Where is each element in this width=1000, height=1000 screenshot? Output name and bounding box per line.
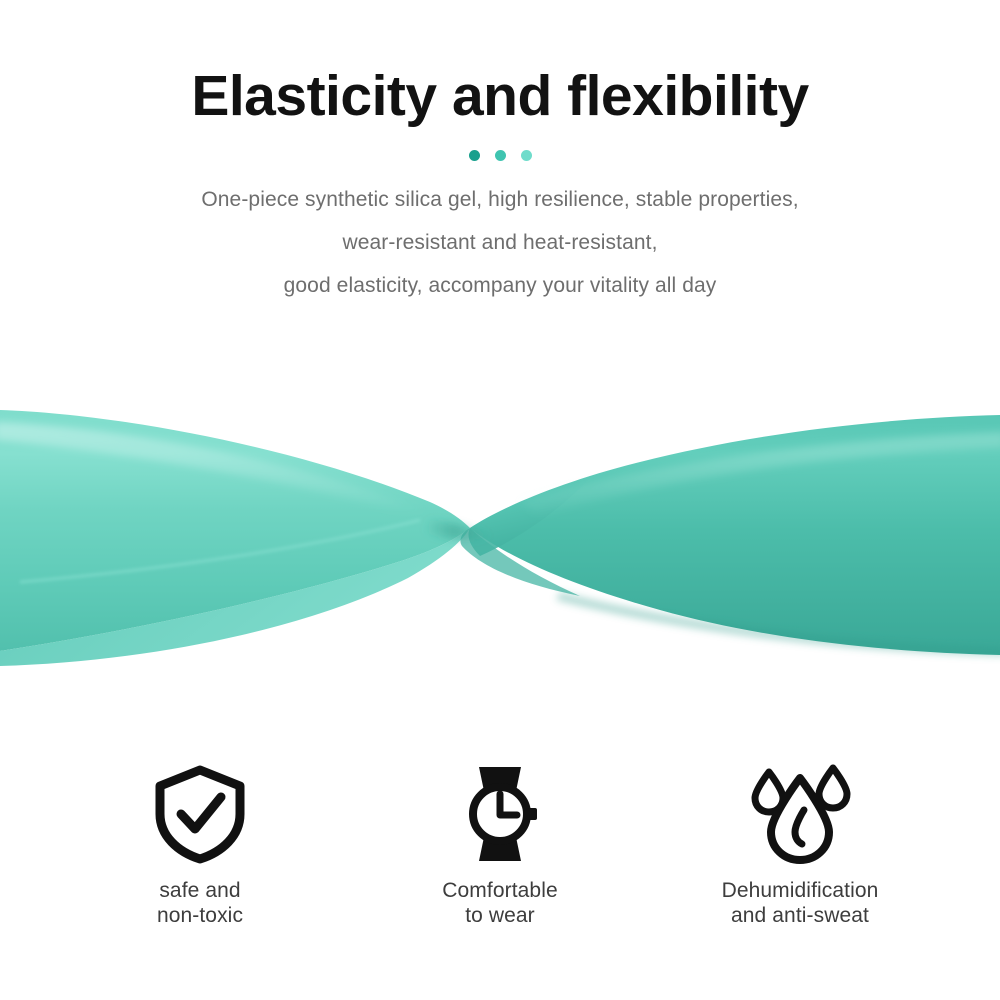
- feature-caption-line-1: Dehumidification: [722, 878, 879, 903]
- shield-outline: [160, 770, 240, 859]
- subtitle-line-2: wear-resistant and heat-resistant,: [0, 221, 1000, 264]
- droplet-small-right: [819, 768, 847, 808]
- feature-item-safe-non-toxic: safe and non-toxic: [50, 762, 350, 928]
- feature-caption: Comfortable to wear: [442, 878, 557, 928]
- feature-list: safe and non-toxic Comfortable to wear: [0, 762, 1000, 928]
- dot-light: [521, 150, 532, 161]
- watch-crown: [528, 808, 537, 820]
- feature-caption: Dehumidification and anti-sweat: [722, 878, 879, 928]
- wristwatch-icon: [452, 762, 548, 866]
- feature-caption: safe and non-toxic: [157, 878, 243, 928]
- dot-medium: [495, 150, 506, 161]
- subtitle-line-3: good elasticity, accompany your vitality…: [0, 264, 1000, 307]
- feature-caption-line-1: safe and: [157, 878, 243, 903]
- feature-item-comfortable-to-wear: Comfortable to wear: [350, 762, 650, 928]
- check-mark: [181, 797, 221, 829]
- twisted-band-illustration: [0, 370, 1000, 700]
- page-title: Elasticity and flexibility: [0, 0, 1000, 130]
- product-image: [0, 370, 1000, 700]
- watch-hands: [500, 794, 517, 815]
- subtitle-block: One-piece synthetic silica gel, high res…: [0, 161, 1000, 307]
- feature-item-dehumidification: Dehumidification and anti-sweat: [650, 762, 950, 928]
- feature-caption-line-1: Comfortable: [442, 878, 557, 903]
- feature-caption-line-2: to wear: [442, 903, 557, 928]
- droplet-inner-highlight: [795, 810, 804, 844]
- divider-dots: [0, 149, 1000, 161]
- dot-dark: [469, 150, 480, 161]
- water-droplets-icon: [745, 762, 855, 866]
- feature-caption-line-2: and anti-sweat: [722, 903, 879, 928]
- feature-caption-line-2: non-toxic: [157, 903, 243, 928]
- header-section: Elasticity and flexibility One-piece syn…: [0, 0, 1000, 307]
- shield-check-icon: [152, 762, 248, 866]
- subtitle-line-1: One-piece synthetic silica gel, high res…: [0, 178, 1000, 221]
